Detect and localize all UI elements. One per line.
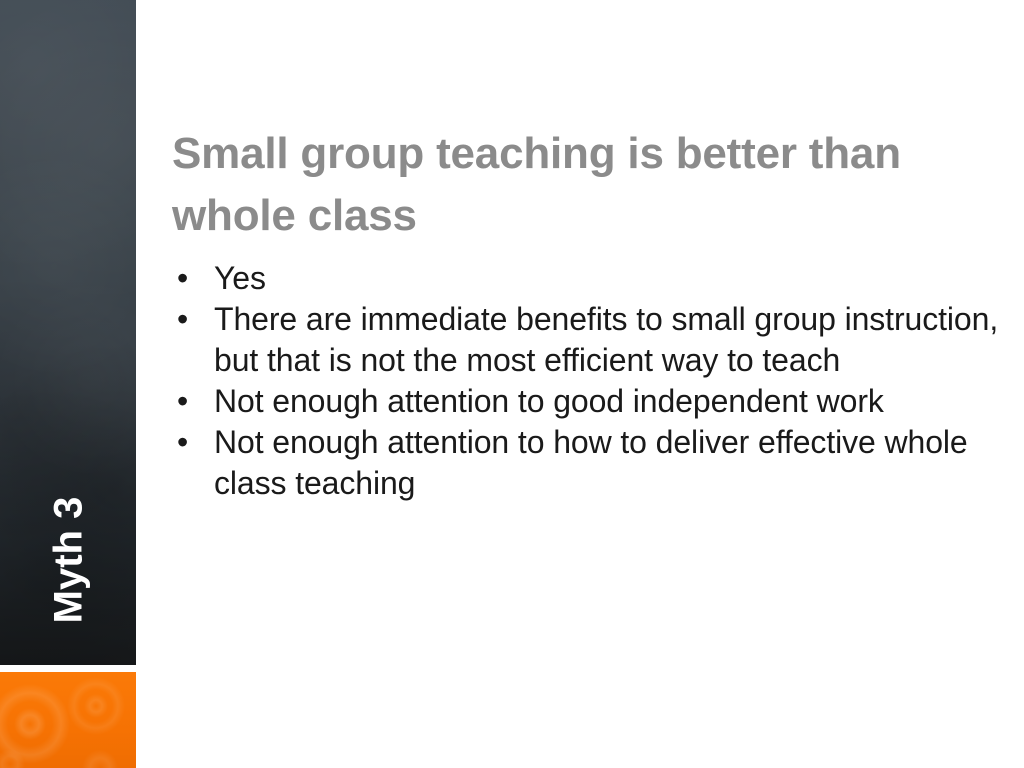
bullet-marker-icon: • bbox=[177, 381, 197, 422]
slide: Myth 3 Small group teaching is better th… bbox=[0, 0, 1024, 768]
list-item: • Not enough attention to good independe… bbox=[168, 381, 1024, 422]
accent-block-orange bbox=[0, 672, 136, 768]
bullet-list: • Yes • There are immediate benefits to … bbox=[168, 258, 1024, 504]
content-area: Small group teaching is better than whol… bbox=[136, 0, 1024, 768]
slide-title: Small group teaching is better than whol… bbox=[172, 123, 962, 245]
list-item-text: There are immediate benefits to small gr… bbox=[214, 299, 1024, 381]
list-item: • There are immediate benefits to small … bbox=[168, 299, 1024, 381]
list-item: • Not enough attention to how to deliver… bbox=[168, 422, 1024, 504]
list-item-text: Yes bbox=[214, 258, 1024, 299]
bullet-marker-icon: • bbox=[177, 299, 197, 340]
sidebar-label-myth: Myth 3 bbox=[48, 497, 88, 624]
list-item-text: Not enough attention to how to deliver e… bbox=[214, 422, 1024, 504]
sidebar-label-container: Myth 3 bbox=[0, 460, 136, 660]
bullet-marker-icon: • bbox=[177, 258, 197, 299]
sidebar-panel: Myth 3 bbox=[0, 0, 136, 665]
accent-texture-overlay bbox=[0, 672, 136, 768]
bullet-marker-icon: • bbox=[177, 422, 197, 463]
list-item: • Yes bbox=[168, 258, 1024, 299]
list-item-text: Not enough attention to good independent… bbox=[214, 381, 1024, 422]
